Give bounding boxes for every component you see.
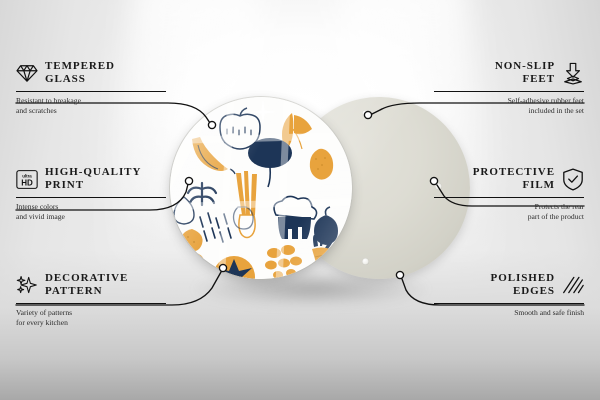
feature-title-line1: HIGH-QUALITY xyxy=(45,166,141,179)
ultra-hd-icon: ultra HD xyxy=(16,168,38,190)
diamond-icon xyxy=(16,62,38,84)
feature-title-line1: PROTECTIVE xyxy=(473,166,555,179)
feature-desc-line1: Smooth and safe finish xyxy=(434,308,584,318)
feature-protective-film[interactable]: PROTECTIVE FILM Protects the rear part o… xyxy=(434,166,584,222)
feature-desc-line2: and scratches xyxy=(16,106,166,116)
feature-underline xyxy=(16,197,166,198)
feature-title-line1: NON-SLIP xyxy=(495,60,555,73)
feature-underline xyxy=(434,197,584,198)
feature-underline xyxy=(16,303,166,304)
feature-desc-line2: and vivid image xyxy=(16,212,166,222)
shield-check-icon xyxy=(562,168,584,190)
feature-title-line2: GLASS xyxy=(45,73,115,86)
infographic-canvas: TEMPERED GLASS Resistant to breakage and… xyxy=(0,0,600,400)
feature-polished-edges[interactable]: POLISHED EDGES Smooth and safe finish xyxy=(434,272,584,318)
feature-desc-line1: Self-adhesive rubber feet xyxy=(434,96,584,106)
feature-high-quality-print[interactable]: ultra HD HIGH-QUALITY PRINT Intense colo… xyxy=(16,166,166,222)
feature-decorative-pattern[interactable]: DECORATIVE PATTERN Variety of patterns f… xyxy=(16,272,166,328)
feature-underline xyxy=(16,91,166,92)
sparkle-icon xyxy=(16,274,38,296)
rubber-foot xyxy=(362,258,369,265)
feature-desc-line2: part of the product xyxy=(434,212,584,222)
arrow-down-onto-surface-icon xyxy=(562,62,584,84)
feature-title-line2: FILM xyxy=(473,179,555,192)
feature-tempered-glass[interactable]: TEMPERED GLASS Resistant to breakage and… xyxy=(16,60,166,116)
feature-desc-line1: Variety of patterns xyxy=(16,308,166,318)
feature-title-line2: PATTERN xyxy=(45,285,128,298)
feature-underline xyxy=(434,91,584,92)
feature-title-line1: POLISHED xyxy=(491,272,555,285)
feature-title-line1: DECORATIVE xyxy=(45,272,128,285)
feature-title-line2: EDGES xyxy=(491,285,555,298)
feature-desc-line1: Resistant to breakage xyxy=(16,96,166,106)
feature-desc-line2: included in the set xyxy=(434,106,584,116)
front-board-printed xyxy=(170,97,352,279)
rubber-foot xyxy=(362,110,369,117)
feature-underline xyxy=(434,303,584,304)
feature-title-line1: TEMPERED xyxy=(45,60,115,73)
feature-desc-line1: Intense colors xyxy=(16,202,166,212)
diagonal-stripes-icon xyxy=(562,274,584,296)
feature-desc-line1: Protects the rear xyxy=(434,202,584,212)
ultra-hd-large-text: HD xyxy=(21,178,33,187)
vegetable-pattern xyxy=(170,97,352,279)
feature-title-line2: PRINT xyxy=(45,179,141,192)
feature-title-line2: FEET xyxy=(495,73,555,86)
feature-non-slip-feet[interactable]: NON-SLIP FEET Self-adhesive rubber feet … xyxy=(434,60,584,116)
feature-desc-line2: for every kitchen xyxy=(16,318,166,328)
